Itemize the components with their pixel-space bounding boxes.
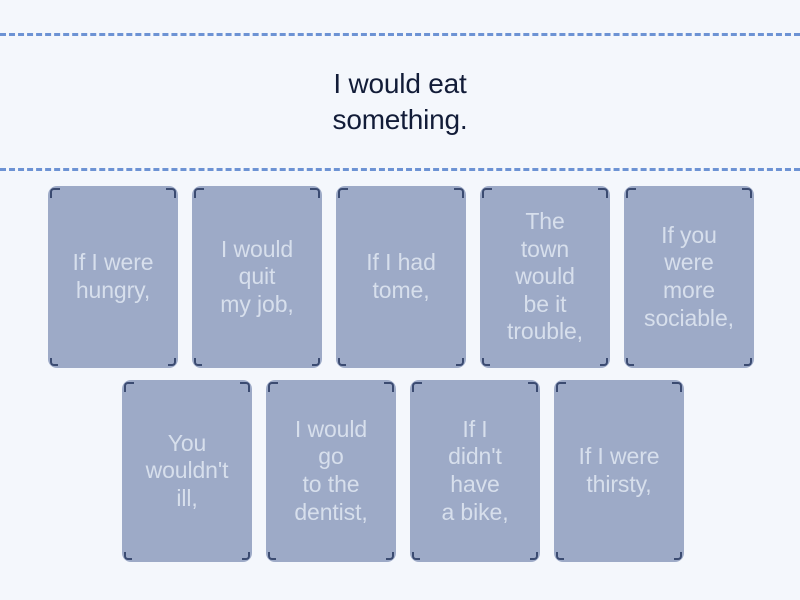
grip-corner-icon <box>744 358 752 366</box>
grip-corner-icon <box>482 358 490 366</box>
dashed-divider-bottom <box>0 168 800 171</box>
answer-card[interactable]: If you were more sociable, <box>624 186 754 368</box>
prompt-text: I would eat something. <box>333 66 468 138</box>
answer-card[interactable]: I would quit my job, <box>192 186 322 368</box>
grip-corner-icon <box>556 552 564 560</box>
answer-card-text: I would go to the dentist, <box>294 416 367 526</box>
grip-corner-icon <box>530 552 538 560</box>
answer-card-text: If you were more sociable, <box>644 222 734 332</box>
prompt-drop-zone[interactable]: I would eat something. <box>0 36 800 168</box>
grip-corner-icon <box>386 552 394 560</box>
grip-corner-icon <box>168 358 176 366</box>
answer-card[interactable]: If I were hungry, <box>48 186 178 368</box>
answer-card-row-2: You wouldn't ill, I would go to the dent… <box>122 380 684 562</box>
grip-corner-icon <box>194 358 202 366</box>
answer-card-text: If I were hungry, <box>73 249 154 304</box>
answer-card[interactable]: If I had tome, <box>336 186 466 368</box>
grip-corner-icon <box>600 358 608 366</box>
answer-card-text: If I were thirsty, <box>579 443 660 498</box>
grip-corner-icon <box>626 358 634 366</box>
grip-corner-icon <box>242 552 250 560</box>
grip-corner-icon <box>338 358 346 366</box>
answer-card-text: If I didn't have a bike, <box>441 416 508 526</box>
answer-card-text: If I had tome, <box>366 249 436 304</box>
grip-corner-icon <box>124 552 132 560</box>
answer-card-text: I would quit my job, <box>220 236 293 319</box>
answer-card-row-1: If I were hungry, I would quit my job, I… <box>48 186 754 368</box>
answer-card[interactable]: The town would be it trouble, <box>480 186 610 368</box>
grip-corner-icon <box>268 552 276 560</box>
answer-card-text: You wouldn't ill, <box>146 430 229 513</box>
grip-corner-icon <box>674 552 682 560</box>
grip-corner-icon <box>312 358 320 366</box>
answer-card[interactable]: You wouldn't ill, <box>122 380 252 562</box>
answer-card[interactable]: If I were thirsty, <box>554 380 684 562</box>
grip-corner-icon <box>50 358 58 366</box>
grip-corner-icon <box>456 358 464 366</box>
answer-card[interactable]: If I didn't have a bike, <box>410 380 540 562</box>
grip-corner-icon <box>412 552 420 560</box>
answer-card-text: The town would be it trouble, <box>507 208 583 346</box>
answer-card[interactable]: I would go to the dentist, <box>266 380 396 562</box>
